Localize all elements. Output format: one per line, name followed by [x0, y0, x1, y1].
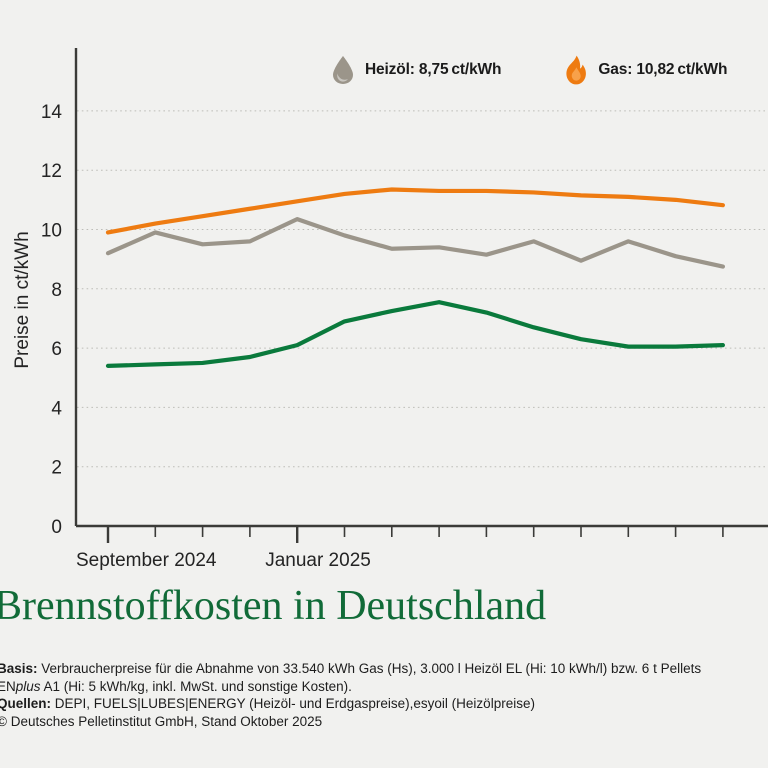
y-tick-4: 4 — [51, 398, 62, 419]
x-tick-label-1: Januar 2025 — [265, 550, 371, 571]
footer-line-basis: Basis: Verbraucherpreise für die Abnahme… — [0, 660, 768, 678]
line-chart-svg: 02468101214 September 2024Januar 2025 Pr… — [0, 0, 768, 580]
y-tick-2: 2 — [51, 458, 62, 479]
y-axis-tick-labels: 02468101214 — [41, 102, 63, 538]
chart-footer: Basis: Verbraucherpreise für die Abnahme… — [0, 660, 768, 730]
x-axis-ticks — [108, 526, 723, 543]
footer-enplus-post: A1 (Hi: 5 kWh/kg, inkl. MwSt. und sonsti… — [41, 679, 352, 694]
x-axis-tick-labels: September 2024Januar 2025 — [76, 550, 371, 571]
y-tick-14: 14 — [41, 102, 63, 123]
footer-basis-text: Verbraucherpreise für die Abnahme von 33… — [38, 661, 702, 676]
footer-enplus-italic: plus — [16, 679, 41, 694]
y-axis-title: Preise in ct/kWh — [12, 231, 33, 368]
chart-page: Heizöl: 8,75 ct/kWh Gas: 10,82 ct/kWh — [0, 0, 768, 768]
series-line-gas — [108, 189, 723, 232]
y-tick-8: 8 — [51, 280, 62, 301]
y-tick-6: 6 — [51, 339, 62, 360]
footer-line-enplus: ENplus A1 (Hi: 5 kWh/kg, inkl. MwSt. und… — [0, 678, 768, 696]
footer-quellen-text: DEPI, FUELS|LUBES|ENERGY (Heizöl- und Er… — [51, 696, 535, 711]
chart-gridlines — [77, 111, 768, 467]
y-tick-0: 0 — [51, 517, 62, 538]
series-line-heizöl — [108, 219, 723, 266]
x-tick-label-0: September 2024 — [76, 550, 217, 571]
footer-basis-label: Basis: — [0, 661, 38, 676]
series-line-pellets — [108, 302, 723, 366]
y-tick-10: 10 — [41, 221, 62, 242]
footer-quellen-label: Quellen: — [0, 696, 51, 711]
chart-plot-area: 02468101214 September 2024Januar 2025 Pr… — [0, 0, 768, 580]
page-title: Brennstoffkosten in Deutschland — [0, 582, 764, 630]
footer-line-copyright: © Deutsches Pelletinstitut GmbH, Stand O… — [0, 713, 768, 731]
footer-line-quellen: Quellen: DEPI, FUELS|LUBES|ENERGY (Heizö… — [0, 695, 768, 713]
y-tick-12: 12 — [41, 161, 62, 182]
chart-series-lines — [108, 189, 723, 365]
footer-enplus-pre: EN — [0, 679, 16, 694]
